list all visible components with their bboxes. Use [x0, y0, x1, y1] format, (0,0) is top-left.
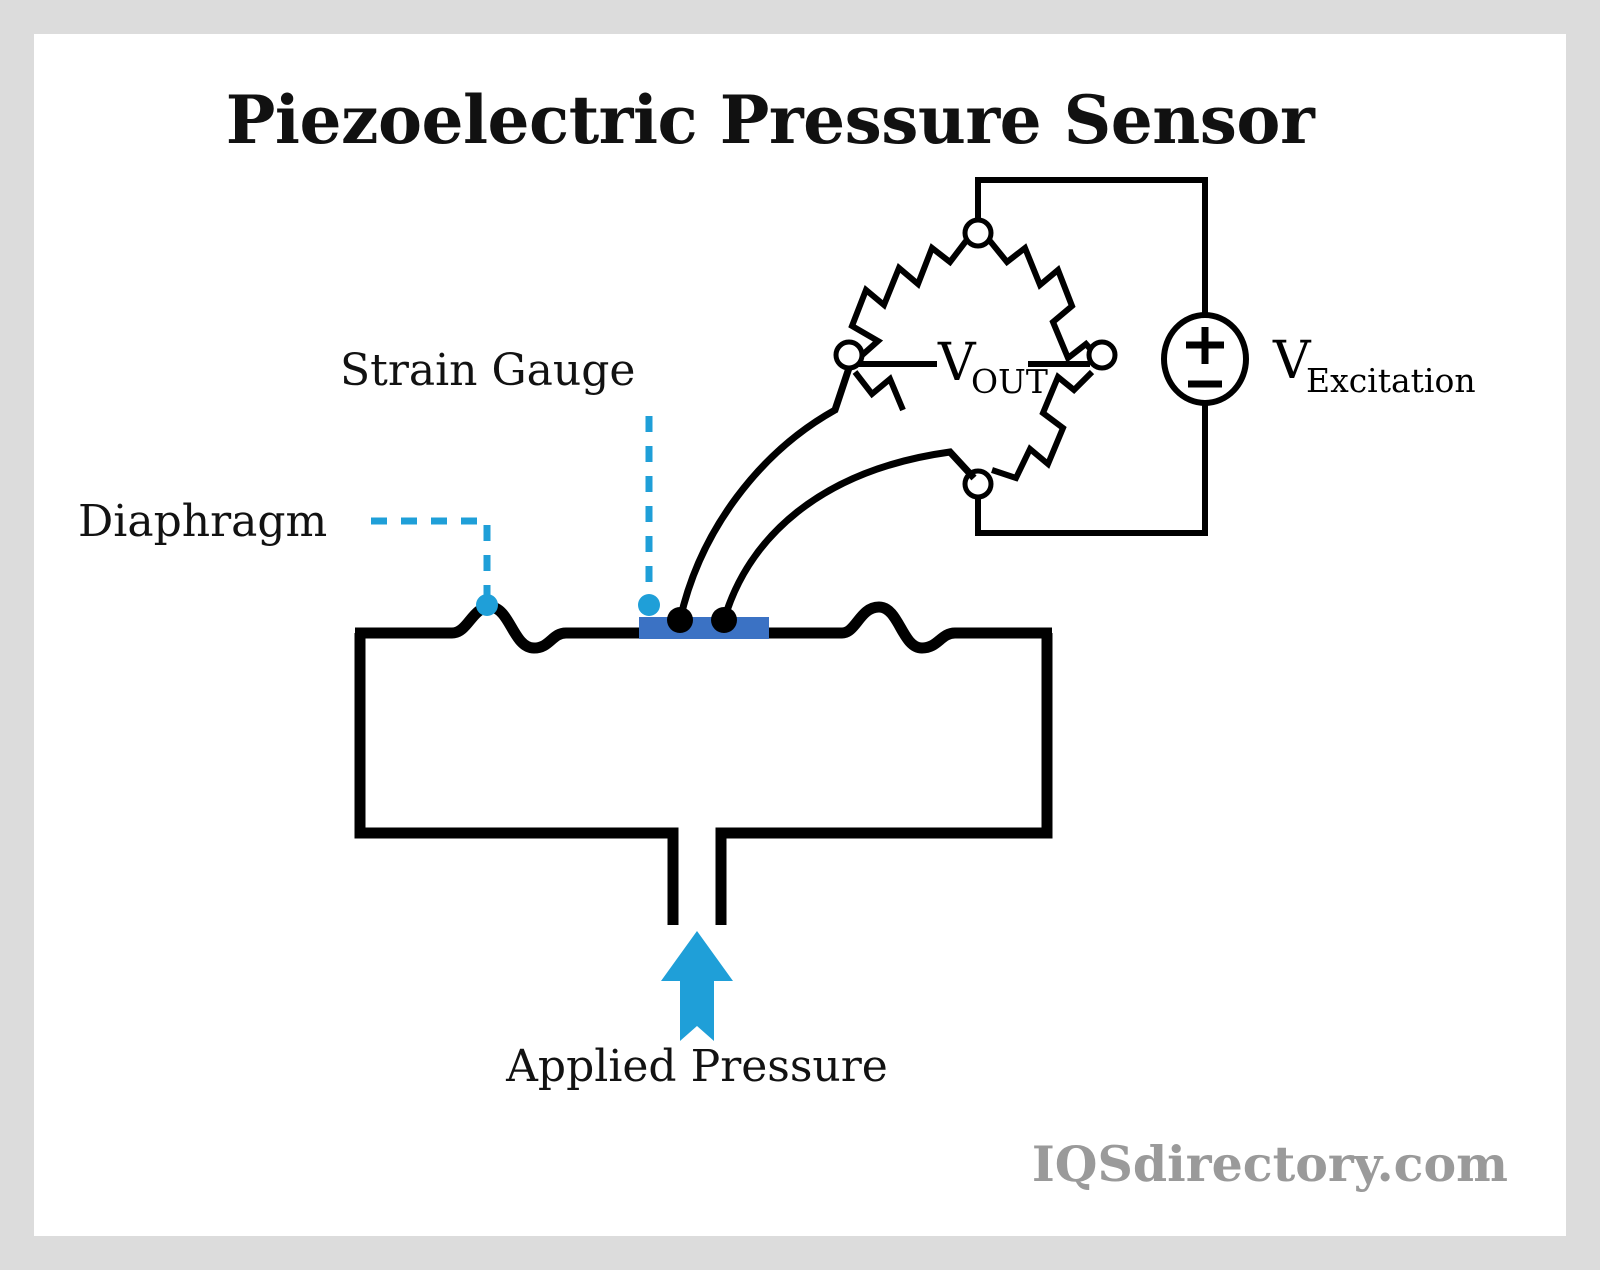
bridge-resistor-upper-right [990, 241, 1093, 358]
vexcitation-subscript: Excitation [1306, 361, 1476, 400]
diaphragm-callout: Diaphragm [78, 496, 498, 616]
gauge-contact-dot-right [711, 607, 737, 633]
diaphragm-leader-endpoint [476, 594, 498, 616]
applied-pressure-label: Applied Pressure [505, 1041, 888, 1092]
sensor-body-left-wall [360, 633, 673, 925]
gauge-lead-wire-right [724, 452, 974, 620]
strain-gauge-label: Strain Gauge [340, 345, 635, 396]
diaphragm-label: Diaphragm [78, 496, 327, 547]
vexcitation-label: V Excitation [1272, 331, 1476, 400]
bridge-resistor-lower-left [855, 372, 903, 410]
watermark: IQSdirectory.com [1032, 1135, 1508, 1193]
bridge-node-right [1089, 342, 1115, 368]
sensor-body [360, 633, 1047, 925]
strain-gauge-leader-endpoint [638, 594, 660, 616]
strain-gauge-callout: Strain Gauge [340, 345, 660, 616]
figure-root: Piezoelectric Pressure Sensor V OUT [0, 0, 1600, 1270]
strain-gauge-element [639, 617, 769, 639]
bridge-bottom-supply-wire [978, 400, 1205, 533]
applied-pressure-arrow [661, 931, 733, 1041]
vout-label: V OUT [937, 333, 1048, 401]
diaphragm-leader-line [371, 521, 487, 596]
vout-subscript: OUT [971, 362, 1048, 401]
gauge-contact-dot-left [667, 607, 693, 633]
bridge-node-left [836, 342, 862, 368]
page-title: Piezoelectric Pressure Sensor [226, 81, 1316, 159]
bridge-node-top [965, 220, 991, 246]
sensor-body-right-wall [721, 633, 1047, 925]
excitation-voltage-source: V Excitation [1164, 315, 1476, 403]
wheatstone-bridge: V OUT [836, 180, 1205, 533]
piezoelectric-pressure-sensor-diagram: Piezoelectric Pressure Sensor V OUT [0, 0, 1600, 1270]
bridge-top-supply-wire [978, 180, 1205, 318]
